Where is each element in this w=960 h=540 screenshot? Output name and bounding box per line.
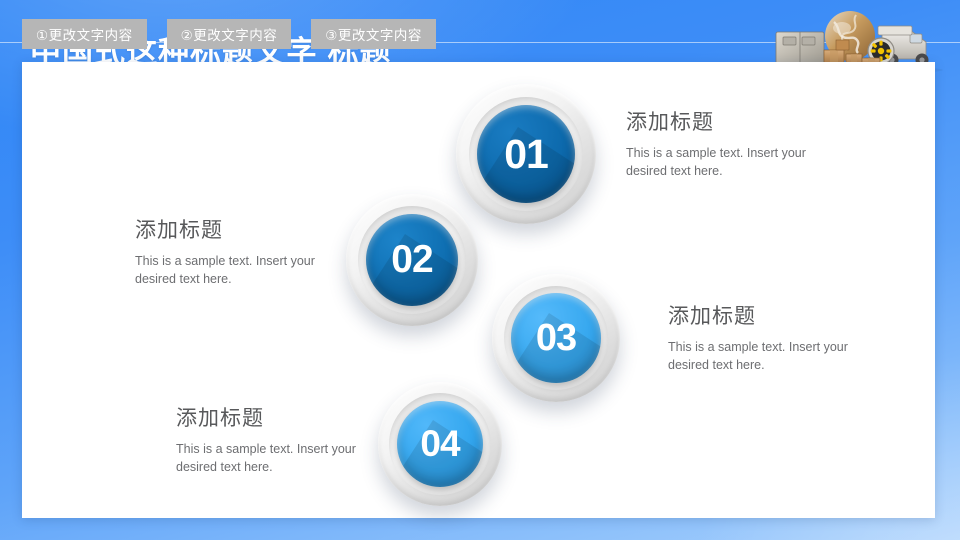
- tab-1[interactable]: ①更改文字内容: [22, 19, 147, 49]
- step-circle-03[interactable]: 03: [492, 274, 620, 402]
- step-body-03: This is a sample text. Insert your desir…: [668, 339, 878, 375]
- step-text-04: 添加标题 This is a sample text. Insert your …: [176, 402, 376, 477]
- step-text-03: 添加标题 This is a sample text. Insert your …: [668, 300, 878, 375]
- step-circle-04[interactable]: 04: [378, 382, 502, 506]
- step-number-04: 04: [420, 423, 459, 465]
- tab-2[interactable]: ②更改文字内容: [167, 19, 292, 49]
- step-title-03: 添加标题: [668, 300, 878, 330]
- step-number-03: 03: [536, 317, 576, 360]
- step-text-02: 添加标题 This is a sample text. Insert your …: [135, 214, 335, 289]
- step-body-01: This is a sample text. Insert your desir…: [626, 145, 836, 181]
- step-body-02: This is a sample text. Insert your desir…: [135, 253, 335, 289]
- content-card: 01 添加标题 This is a sample text. Insert yo…: [22, 62, 935, 518]
- step-title-01: 添加标题: [626, 106, 836, 136]
- presentation-slide: 中国式这种标题文字 标题: [0, 0, 960, 540]
- step-number-01: 01: [504, 131, 548, 178]
- step-body-04: This is a sample text. Insert your desir…: [176, 441, 376, 477]
- step-circle-02[interactable]: 02: [346, 194, 478, 326]
- tab-3[interactable]: ③更改文字内容: [311, 19, 436, 49]
- step-number-02: 02: [391, 238, 432, 282]
- step-text-01: 添加标题 This is a sample text. Insert your …: [626, 106, 836, 181]
- tab-bar[interactable]: ①更改文字内容 ②更改文字内容 ③更改文字内容: [22, 19, 436, 49]
- step-title-04: 添加标题: [176, 402, 376, 432]
- step-title-02: 添加标题: [135, 214, 335, 244]
